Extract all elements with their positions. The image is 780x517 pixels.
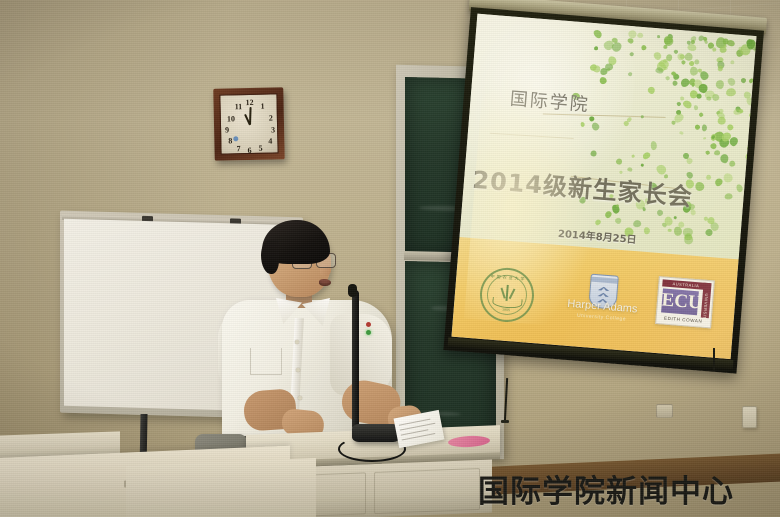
slide-leaf: [749, 129, 756, 137]
clock-numeral-4: 4: [268, 137, 272, 146]
slide-leaf: [694, 105, 699, 110]
clock-numeral-11: 11: [235, 102, 243, 111]
foreground-desk-front: [126, 458, 316, 517]
power-outlet[interactable]: [656, 404, 673, 418]
microphone-capsule: [348, 284, 357, 297]
light-switch[interactable]: [742, 406, 757, 428]
shirt-button-3: [298, 396, 302, 400]
slide-leaf: [756, 46, 757, 54]
slide-leaf: [751, 122, 757, 130]
slide-leaf: [633, 219, 642, 227]
slide-leaf: [714, 151, 720, 156]
slide-leaf: [724, 193, 732, 200]
slide-leaf: [724, 173, 733, 182]
slide-leaf: [679, 130, 683, 134]
slide-leaf: [594, 46, 598, 50]
ecu-acronym: ECU: [661, 288, 699, 315]
slide-leaf: [650, 141, 657, 150]
slide-leaf: [673, 216, 677, 220]
slide-leaf: [723, 38, 729, 44]
watermark: 国际学院新闻中心: [478, 466, 734, 511]
slide-leaf: [696, 93, 701, 99]
hair-sideburn: [261, 240, 279, 274]
slide-leaf: [741, 236, 745, 240]
harper-adams-logo: Harper Adams University College: [565, 272, 641, 326]
photo-scene: 12 1 2 3 4 5 6 7 8 9 10 11: [0, 0, 780, 517]
shirt-pocket: [250, 348, 282, 375]
clock-numeral-6: 6: [247, 146, 251, 155]
clock-numeral-9: 9: [225, 125, 229, 134]
shirt-button-1: [295, 340, 299, 344]
clock-numeral-2: 2: [269, 113, 273, 122]
clock-numeral-3: 3: [271, 125, 275, 134]
clock-numeral-7: 7: [236, 144, 240, 153]
microphone-led-red: [366, 322, 371, 327]
clock-numeral-1: 1: [261, 102, 265, 111]
slide-leaf: [750, 115, 757, 127]
shield-chevron-2: [597, 292, 609, 297]
microphone-led-green: [366, 330, 371, 335]
lectern-panel-right: [374, 468, 480, 514]
slide-leaf: [640, 115, 644, 118]
slide-leaf: [717, 65, 723, 71]
slide-leaf: [689, 66, 697, 75]
slide-leaf: [742, 194, 753, 205]
slide-leaf: [752, 116, 756, 122]
slide-leaf: [747, 144, 756, 153]
clock-numeral-5: 5: [258, 144, 262, 153]
slide-leaf: [664, 44, 668, 48]
clock-numeral-10: 10: [227, 114, 235, 123]
slide-leaf: [680, 96, 684, 100]
clock-numeral-12: 12: [245, 98, 253, 107]
ecu-logo: AUSTRALIA UNIVERSITY ECU EDITH COWAN: [655, 276, 715, 328]
screen-border: 国际学院 2014级新生家长会 2014年8月25日 中国农业大学 1905: [443, 7, 764, 373]
slide-leaf: [703, 36, 707, 40]
slide-leaf: [702, 124, 708, 131]
slide-leaf: [742, 215, 747, 220]
screen-cable-right: [713, 348, 715, 370]
slide-leaf: [743, 195, 751, 204]
microphone-cable: [338, 436, 406, 462]
slide-leaf: [720, 154, 728, 164]
clock-face: 12 1 2 3 4 5 6 7 8 9 10 11: [219, 93, 278, 154]
clock-numeral-8: 8: [228, 136, 232, 145]
microphone-gooseneck: [352, 290, 359, 430]
shield-chief: [591, 277, 617, 284]
screen-hook-left: [501, 420, 509, 423]
slide-leaf: [682, 152, 689, 159]
slide-leaf: [738, 46, 742, 51]
projection-screen: 国际学院 2014级新生家长会 2014年8月25日 中国农业大学 1905: [440, 0, 767, 387]
slide-leaf: [694, 59, 700, 65]
slide-leaf: [741, 209, 748, 217]
shirt-button-2: [296, 368, 300, 372]
slide-leaf: [749, 143, 756, 151]
mouth: [319, 279, 331, 286]
shield-chevron-1: [598, 286, 610, 291]
clock-decor-dot: [233, 136, 238, 141]
slide-leaf: [749, 121, 754, 126]
ecu-side-band-text: UNIVERSITY: [703, 293, 709, 301]
slide-leaf: [593, 64, 601, 72]
wall-clock: 12 1 2 3 4 5 6 7 8 9 10 11: [213, 87, 284, 160]
presentation-slide: 国际学院 2014级新生家长会 2014年8月25日 中国农业大学 1905: [451, 14, 756, 359]
